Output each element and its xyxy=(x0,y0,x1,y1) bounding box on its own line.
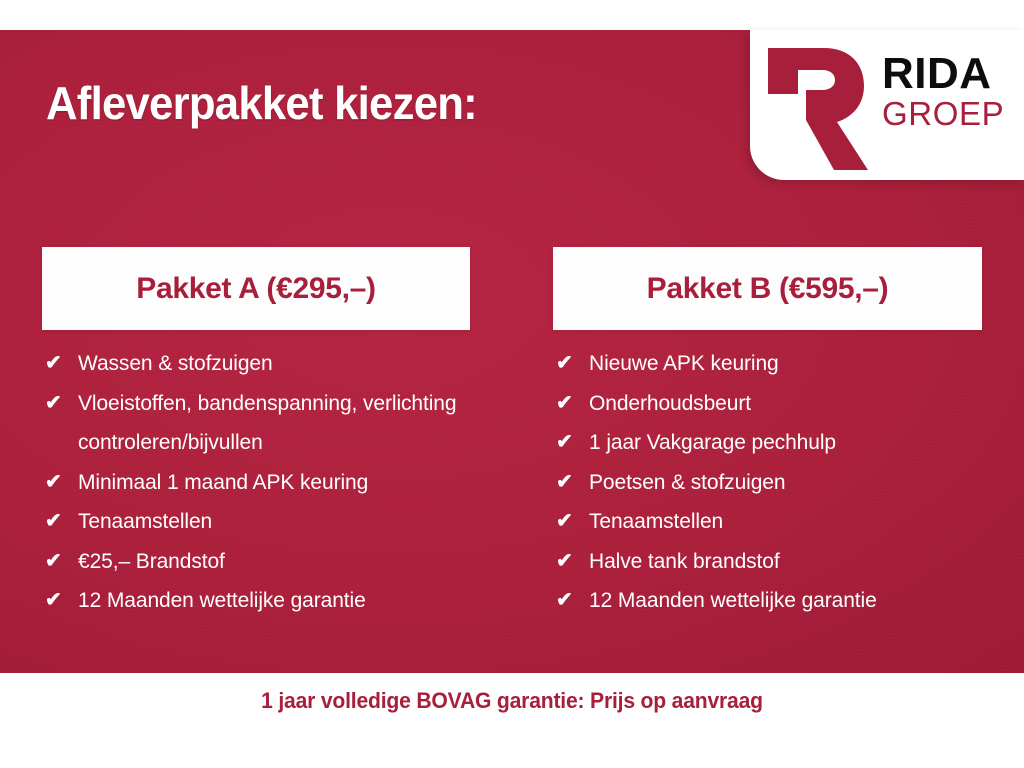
page-title: Afleverpakket kiezen: xyxy=(46,76,477,130)
list-item-label: 1 jaar Vakgarage pechhulp xyxy=(589,423,982,463)
list-item: ✔ Vloeistoffen, bandenspanning, verlicht… xyxy=(42,384,470,463)
logo-panel: RIDA GROEP xyxy=(750,30,1024,180)
list-item: ✔ Onderhoudsbeurt xyxy=(553,384,982,424)
logo-subname: GROEP xyxy=(882,97,1022,132)
package-b-title: Pakket B (€595,–) xyxy=(647,272,889,306)
package-b-feature-list: ✔ Nieuwe APK keuring ✔ Onderhoudsbeurt ✔… xyxy=(553,330,982,621)
footer-bar: 1 jaar volledige BOVAG garantie: Prijs o… xyxy=(0,673,1024,768)
check-icon: ✔ xyxy=(556,502,573,542)
check-icon: ✔ xyxy=(556,344,573,384)
list-item-label: 12 Maanden wettelijke garantie xyxy=(589,581,982,621)
slide-root: Afleverpakket kiezen: RIDA GROEP Pakket … xyxy=(0,0,1024,768)
package-card-a[interactable]: Pakket A (€295,–) ✔ Wassen & stofzuigen … xyxy=(42,247,470,621)
list-item-label: Poetsen & stofzuigen xyxy=(589,463,982,503)
list-item: ✔ Tenaamstellen xyxy=(42,502,470,542)
list-item-label: €25,– Brandstof xyxy=(78,542,470,582)
list-item-label: Minimaal 1 maand APK keuring xyxy=(78,463,470,503)
check-icon: ✔ xyxy=(556,542,573,582)
list-item-label: Onderhoudsbeurt xyxy=(589,384,982,424)
list-item: ✔ Minimaal 1 maand APK keuring xyxy=(42,463,470,503)
list-item-label: 12 Maanden wettelijke garantie xyxy=(78,581,470,621)
list-item-label: Tenaamstellen xyxy=(78,502,470,542)
check-icon: ✔ xyxy=(45,384,62,424)
check-icon: ✔ xyxy=(556,581,573,621)
list-item: ✔ Tenaamstellen xyxy=(553,502,982,542)
rida-r-monogram-icon xyxy=(758,42,870,170)
list-item: ✔ Poetsen & stofzuigen xyxy=(553,463,982,503)
list-item: ✔ €25,– Brandstof xyxy=(42,542,470,582)
package-card-b[interactable]: Pakket B (€595,–) ✔ Nieuwe APK keuring ✔… xyxy=(553,247,982,621)
footer-note: 1 jaar volledige BOVAG garantie: Prijs o… xyxy=(20,688,1003,714)
list-item: ✔ 12 Maanden wettelijke garantie xyxy=(553,581,982,621)
list-item-label: Tenaamstellen xyxy=(589,502,982,542)
package-a-title: Pakket A (€295,–) xyxy=(136,272,376,306)
package-a-header: Pakket A (€295,–) xyxy=(42,247,470,330)
list-item: ✔ Halve tank brandstof xyxy=(553,542,982,582)
package-a-feature-list: ✔ Wassen & stofzuigen ✔ Vloeistoffen, ba… xyxy=(42,330,470,621)
logo-wordmark: RIDA GROEP xyxy=(882,52,1022,132)
list-item: ✔ 12 Maanden wettelijke garantie xyxy=(42,581,470,621)
check-icon: ✔ xyxy=(45,502,62,542)
check-icon: ✔ xyxy=(45,581,62,621)
list-item: ✔ Nieuwe APK keuring xyxy=(553,344,982,384)
logo-name: RIDA xyxy=(882,52,1022,95)
check-icon: ✔ xyxy=(556,423,573,463)
check-icon: ✔ xyxy=(45,463,62,503)
check-icon: ✔ xyxy=(45,344,62,384)
list-item-label: Nieuwe APK keuring xyxy=(589,344,982,384)
check-icon: ✔ xyxy=(556,384,573,424)
list-item: ✔ Wassen & stofzuigen xyxy=(42,344,470,384)
check-icon: ✔ xyxy=(45,542,62,582)
package-b-header: Pakket B (€595,–) xyxy=(553,247,982,330)
list-item-label: Halve tank brandstof xyxy=(589,542,982,582)
list-item: ✔ 1 jaar Vakgarage pechhulp xyxy=(553,423,982,463)
list-item-label: Vloeistoffen, bandenspanning, verlichtin… xyxy=(78,384,470,463)
check-icon: ✔ xyxy=(556,463,573,503)
list-item-label: Wassen & stofzuigen xyxy=(78,344,470,384)
